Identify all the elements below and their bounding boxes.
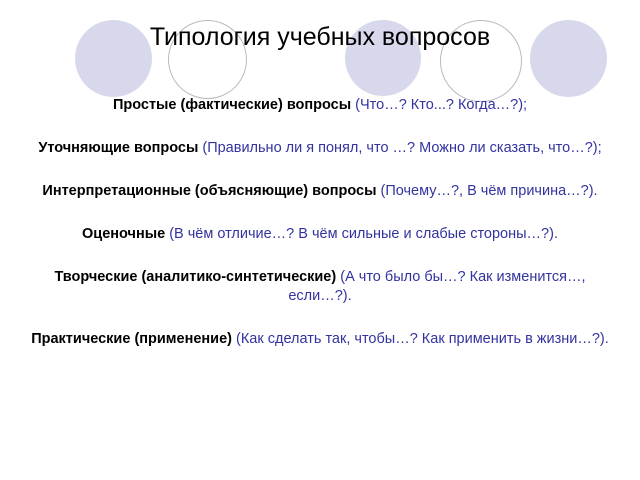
question-type-example: (Как сделать так, чтобы…? Как применить … [236, 331, 609, 347]
question-type-item: Простые (фактические) вопросы (Что…? Кто… [24, 96, 616, 115]
question-type-item: Творческие (аналитико-синтетические) (А … [24, 268, 616, 306]
question-type-term: Уточняющие вопросы [38, 140, 202, 156]
question-type-item: Интерпретационные (объясняющие) вопросы … [24, 182, 616, 201]
question-type-item: Оценочные (В чём отличие…? В чём сильные… [24, 225, 616, 244]
question-type-term: Оценочные [82, 226, 169, 242]
question-type-example: (Почему…?, В чём причина…?). [380, 183, 597, 199]
question-type-term: Простые (фактические) вопросы [113, 97, 355, 113]
question-type-example: (В чём отличие…? В чём сильные и слабые … [169, 226, 558, 242]
page-title: Типология учебных вопросов [0, 22, 640, 52]
question-type-example: (Правильно ли я понял, что …? Можно ли с… [202, 140, 601, 156]
slide-canvas: Типология учебных вопросов Простые (факт… [0, 0, 640, 480]
question-type-term: Интерпретационные (объясняющие) вопросы [42, 183, 380, 199]
question-type-item: Практические (применение) (Как сделать т… [24, 330, 616, 349]
question-type-term: Практические (применение) [31, 331, 236, 347]
question-type-list: Простые (фактические) вопросы (Что…? Кто… [24, 96, 616, 349]
question-type-term: Творческие (аналитико-синтетические) [54, 269, 340, 285]
question-type-example: (Что…? Кто...? Когда…?); [355, 97, 527, 113]
question-type-item: Уточняющие вопросы (Правильно ли я понял… [24, 139, 616, 158]
